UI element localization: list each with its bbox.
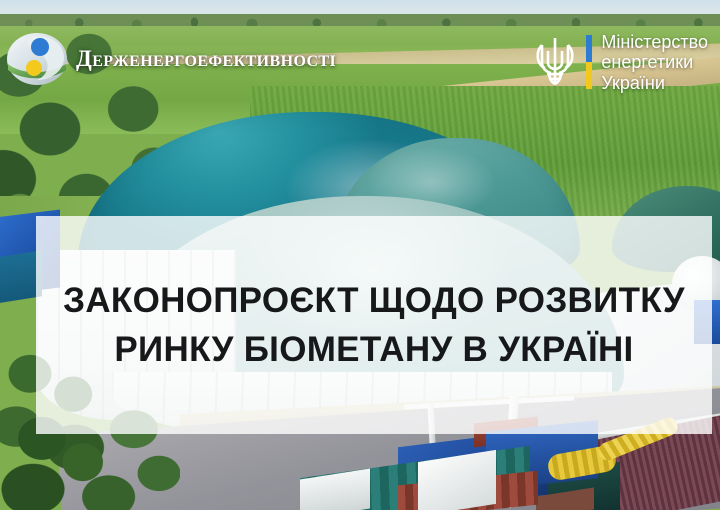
energy-efficiency-emblem-icon [6,30,68,88]
agency-logo: Держенергоефективності [6,30,336,88]
ministry-name-line-2: енергетики [601,52,708,72]
ukraine-trident-icon [533,34,577,91]
ministry-name: Міністерство енергетики України [601,32,708,93]
title-overlay-band: ЗАКОНОПРОЄКТ ЩОДО РОЗВИТКУ РИНКУ БІОМЕТА… [36,216,712,434]
ministry-name-line-3: України [601,73,708,93]
ministry-name-line-1: Міністерство [601,32,708,52]
flag-divider-bar [586,35,592,89]
agency-name: Держенергоефективності [76,46,336,72]
poster: Держенергоефективності [0,0,720,510]
ministry-logo: Міністерство енергетики України [533,32,708,93]
title-line-2: РИНКУ БІОМЕТАНУ В УКРАЇНІ [114,332,633,367]
title-line-1: ЗАКОНОПРОЄКТ ЩОДО РОЗВИТКУ [63,283,685,318]
